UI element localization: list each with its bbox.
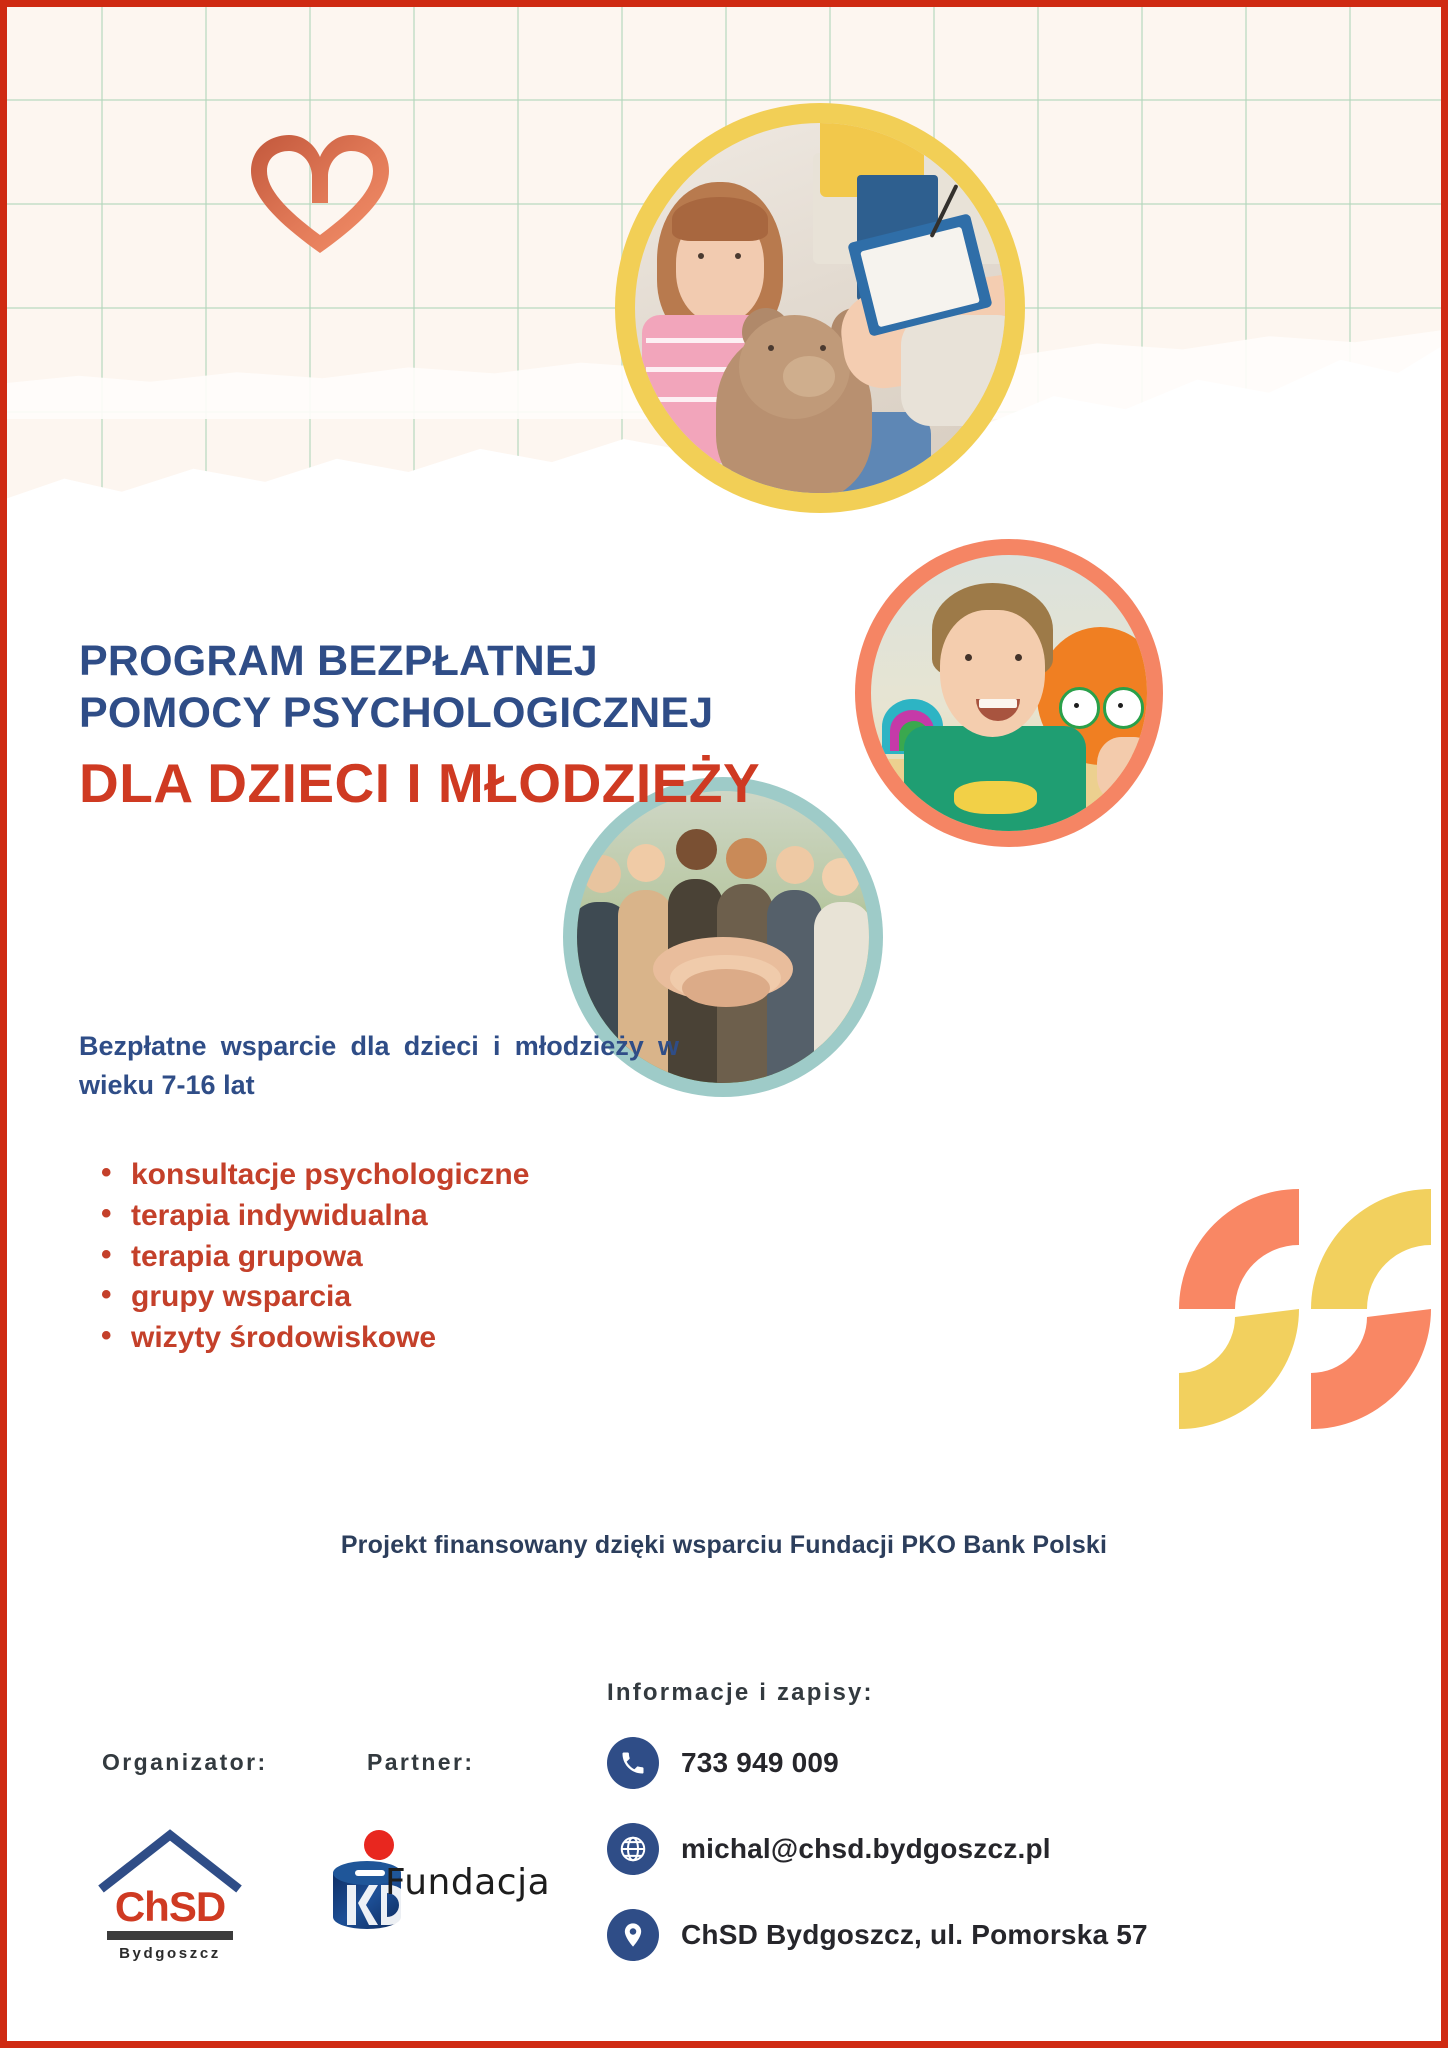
- list-item: konsultacje psychologiczne: [97, 1155, 529, 1196]
- funding-note: Projekt finansowany dzięki wsparciu Fund…: [7, 1531, 1441, 1560]
- list-item: terapia indywidualna: [97, 1196, 529, 1237]
- headline-line-2: POMOCY PSYCHOLOGICZNEJ: [79, 687, 939, 739]
- contact-row-email[interactable]: michal@chsd.bydgoszcz.pl: [607, 1823, 1148, 1875]
- list-item: wizyty środowiskowe: [97, 1318, 529, 1359]
- phone-icon: [607, 1737, 659, 1789]
- pko-dot: [364, 1830, 394, 1860]
- arc-yellow-2: [1179, 1309, 1299, 1429]
- list-item: grupy wsparcia: [97, 1277, 529, 1318]
- location-icon: [607, 1909, 659, 1961]
- heart-icon: [245, 129, 395, 257]
- info-label: Informacje i zapisy:: [607, 1679, 874, 1707]
- photo-girl-with-teddy: [635, 123, 1005, 493]
- phone-number: 733 949 009: [681, 1747, 839, 1779]
- partner-label: Partner:: [367, 1749, 474, 1776]
- street-address: ChSD Bydgoszcz, ul. Pomorska 57: [681, 1919, 1148, 1951]
- chsd-logo-bar: [107, 1931, 233, 1940]
- globe-icon: [607, 1823, 659, 1875]
- arc-coral-1: [1179, 1189, 1299, 1309]
- email-address: michal@chsd.bydgoszcz.pl: [681, 1833, 1051, 1865]
- list-item: terapia grupowa: [97, 1237, 529, 1278]
- chsd-logo: ChSD Bydgoszcz: [95, 1827, 245, 1967]
- page-title: PROGRAM BEZPŁATNEJ POMOCY PSYCHOLOGICZNE…: [79, 635, 939, 817]
- chsd-logo-text: ChSD: [95, 1883, 245, 1931]
- headline-line-1: PROGRAM BEZPŁATNEJ: [79, 635, 939, 687]
- contact-row-address[interactable]: ChSD Bydgoszcz, ul. Pomorska 57: [607, 1909, 1148, 1961]
- contact-list: 733 949 009 michal@chsd.bydgoszcz.pl: [607, 1737, 1148, 1995]
- pko-fundacja-text: Fundacja: [385, 1862, 550, 1903]
- poster-canvas: PROGRAM BEZPŁATNEJ POMOCY PSYCHOLOGICZNE…: [0, 0, 1448, 2048]
- services-list: konsultacje psychologiczne terapia indyw…: [97, 1155, 529, 1359]
- subheadline: Bezpłatne wsparcie dla dzieci i młodzież…: [79, 1027, 679, 1105]
- organizer-label: Organizator:: [102, 1749, 268, 1776]
- decorative-arc-pattern: [1175, 1189, 1433, 1429]
- headline-line-3: DLA DZIECI I MŁODZIEŻY: [79, 750, 939, 817]
- contact-row-phone[interactable]: 733 949 009: [607, 1737, 1148, 1789]
- arc-yellow-1: [1311, 1189, 1431, 1309]
- arc-coral-2: [1311, 1309, 1431, 1429]
- chsd-logo-city: Bydgoszcz: [95, 1945, 245, 1962]
